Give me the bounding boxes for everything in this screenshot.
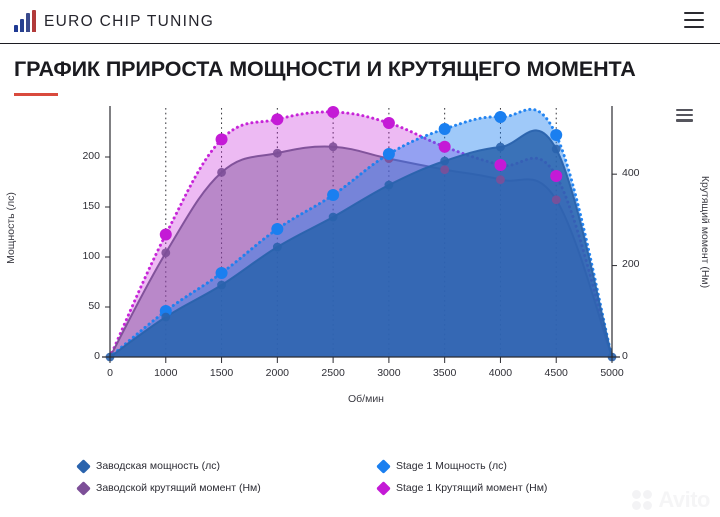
x-axis-tick: 0 xyxy=(85,367,135,379)
y-axis-left-title: Мощность (лс) xyxy=(5,173,17,283)
hamburger-menu-icon[interactable] xyxy=(684,12,704,28)
avito-watermark-text: Avito xyxy=(658,489,710,511)
x-axis-tick: 1500 xyxy=(197,367,247,379)
brand-logo[interactable]: EURO CHIP TUNING xyxy=(14,12,214,32)
x-axis-title: Об/мин xyxy=(0,393,720,405)
legend-stock-power[interactable]: Заводская мощность (лс) xyxy=(78,460,378,472)
bar-chart-logo-icon xyxy=(14,12,36,32)
avito-dots-icon xyxy=(632,490,654,510)
y-axis-left-tick: 100 xyxy=(60,250,100,262)
avito-watermark: Avito xyxy=(632,489,710,511)
x-axis-tick: 2000 xyxy=(252,367,302,379)
x-axis-tick: 4000 xyxy=(475,367,525,379)
x-axis-tick: 2500 xyxy=(308,367,358,379)
brand-name: EURO CHIP TUNING xyxy=(44,14,214,32)
y-axis-left-tick: 200 xyxy=(60,150,100,162)
legend-marker-icon xyxy=(376,481,391,496)
legend-label: Stage 1 Мощность (лс) xyxy=(396,460,507,472)
title-accent-rule xyxy=(14,93,58,96)
y-axis-left-tick: 50 xyxy=(60,300,100,312)
page-title: ГРАФИК ПРИРОСТА МОЩНОСТИ И КРУТЯЩЕГО МОМ… xyxy=(14,58,706,82)
y-axis-right-tick: 400 xyxy=(622,167,662,179)
title-block: ГРАФИК ПРИРОСТА МОЩНОСТИ И КРУТЯЩЕГО МОМ… xyxy=(0,44,720,96)
y-axis-left-tick: 150 xyxy=(60,200,100,212)
power-torque-chart: Мощность (лс) Крутящий момент (Нм) Об/ми… xyxy=(0,104,720,444)
legend-label: Заводской крутящий момент (Нм) xyxy=(96,482,261,494)
x-axis-tick: 1000 xyxy=(141,367,191,379)
legend-stage1-power[interactable]: Stage 1 Мощность (лс) xyxy=(378,460,678,472)
y-axis-right-tick: 200 xyxy=(622,258,662,270)
x-axis-tick: 5000 xyxy=(587,367,637,379)
x-axis-tick: 3000 xyxy=(364,367,414,379)
legend-marker-icon xyxy=(76,481,91,496)
chart-legend: Заводская мощность (лс)Stage 1 Мощность … xyxy=(0,455,720,499)
legend-label: Заводская мощность (лс) xyxy=(96,460,220,472)
legend-marker-icon xyxy=(76,459,91,474)
y-axis-right-tick: 0 xyxy=(622,350,662,362)
app-header: EURO CHIP TUNING xyxy=(0,0,720,44)
x-axis-tick: 3500 xyxy=(420,367,470,379)
y-axis-right-title: Крутящий момент (Нм) xyxy=(699,167,711,297)
legend-marker-icon xyxy=(376,459,391,474)
x-axis-tick: 4500 xyxy=(531,367,581,379)
legend-stock-torque[interactable]: Заводской крутящий момент (Нм) xyxy=(78,482,378,494)
legend-label: Stage 1 Крутящий момент (Нм) xyxy=(396,482,547,494)
y-axis-left-tick: 0 xyxy=(60,350,100,362)
